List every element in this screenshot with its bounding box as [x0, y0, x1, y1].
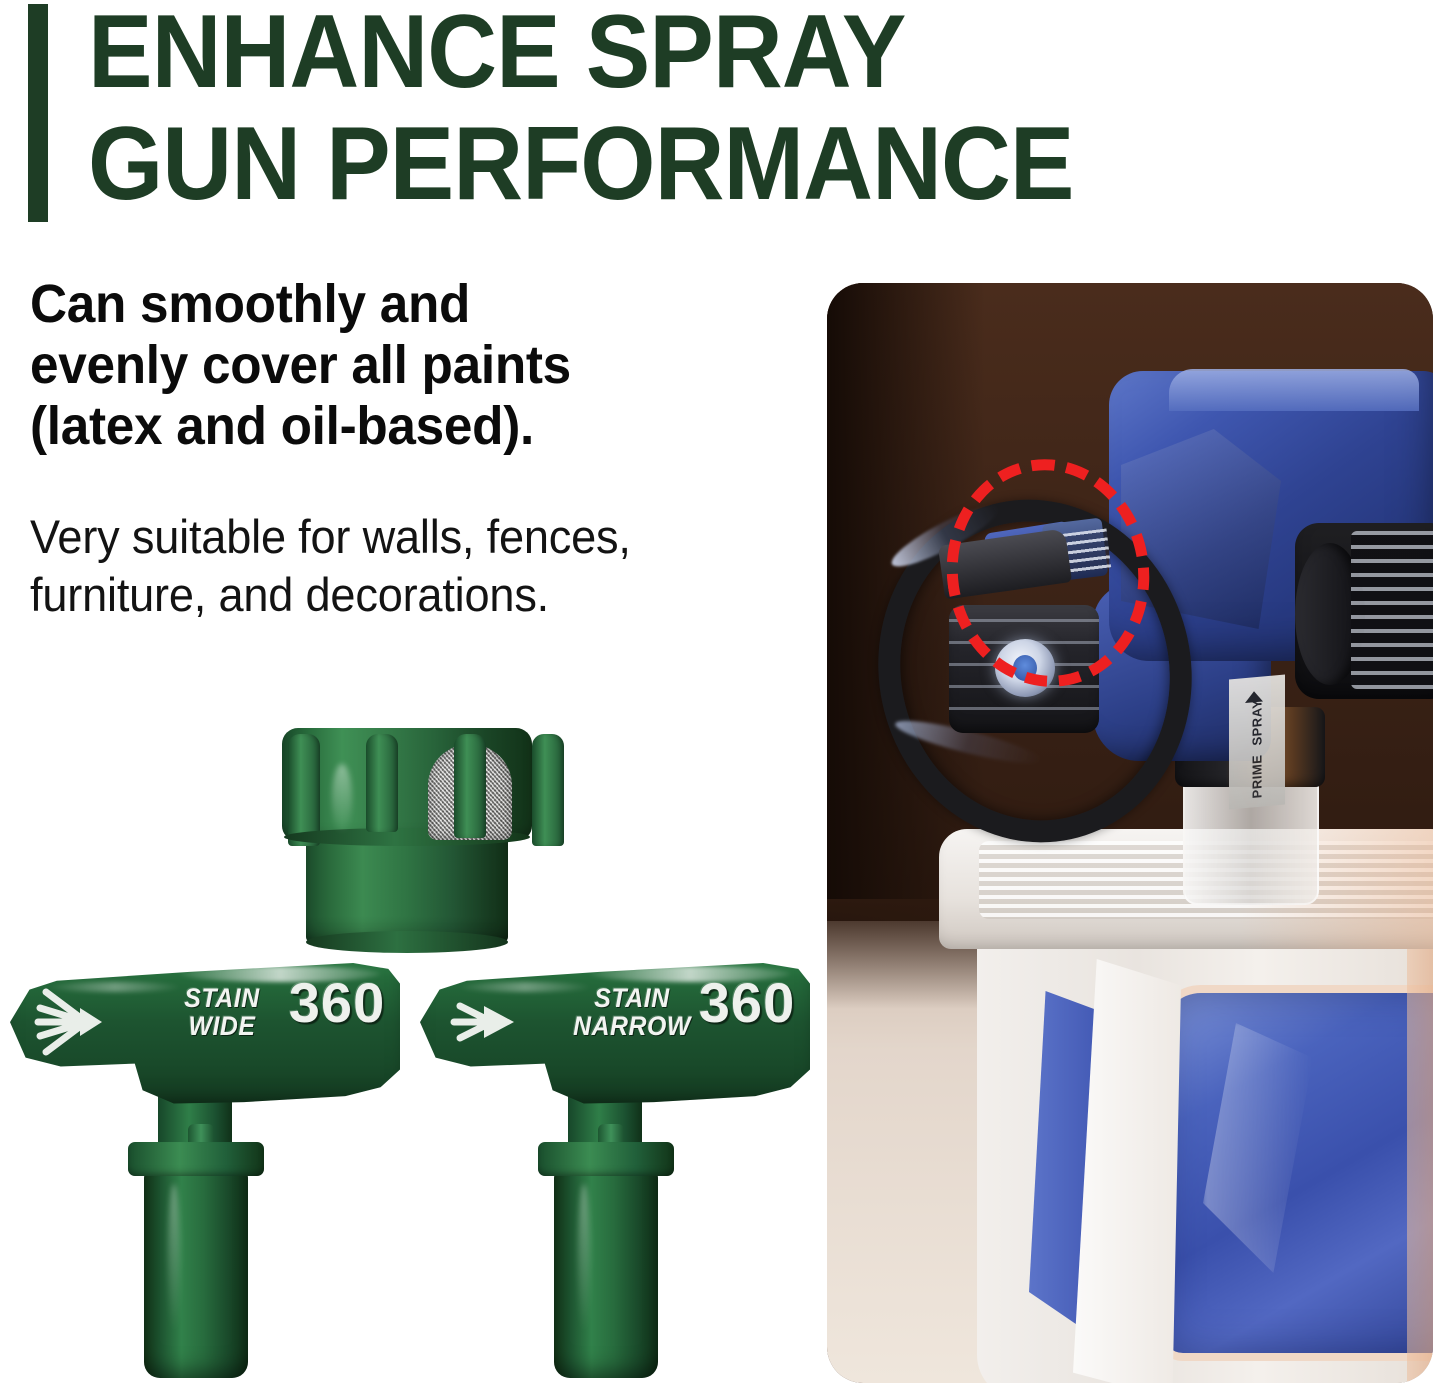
headline-accent-bar: [28, 4, 48, 222]
filter-prong: [454, 734, 486, 838]
filter-prong: [366, 734, 398, 832]
knob-ridges: [1351, 531, 1433, 689]
filter-prong: [288, 734, 320, 846]
filter-prong: [532, 734, 564, 846]
sprayer-body-top: [1169, 369, 1419, 411]
secondary-feature-text: Very suitable for walls, fences, furnitu…: [30, 508, 721, 624]
plate-label-prime: PRIME: [1250, 748, 1265, 805]
spray-tip-stain-wide: STAIN WIDE 360: [10, 960, 410, 1380]
tip-barrel-highlight: [168, 1184, 180, 1334]
sprayer-pressure-knob: [1295, 523, 1433, 699]
paint-bag-window: [1155, 985, 1433, 1361]
suction-filter-product-image: [248, 698, 564, 950]
spray-tip-stain-narrow: STAIN NARROW 360: [420, 960, 820, 1380]
primary-feature-text: Can smoothly and evenly cover all paints…: [30, 274, 695, 457]
paint-container-body: [977, 929, 1433, 1383]
tip-size-text: 360: [682, 974, 812, 1032]
sprayer-mode-plate: SPRAY PRIME: [1229, 675, 1285, 810]
page-title: ENHANCE SPRAY GUN PERFORMANCE: [88, 0, 1241, 220]
tip-barrel: [144, 1170, 248, 1378]
tip-barrel-highlight: [578, 1184, 590, 1334]
tip-collar: [538, 1142, 674, 1176]
paint-sprayer-photo: SPRAY PRIME: [827, 283, 1433, 1383]
headline-block: ENHANCE SPRAY GUN PERFORMANCE: [28, 0, 1318, 232]
tip-barrel: [554, 1170, 658, 1378]
narrow-fan-spray-icon: [434, 984, 518, 1060]
tip-size-text: 360: [272, 974, 402, 1032]
paint-bag-fold: [1203, 1023, 1313, 1273]
filter-highlight: [332, 764, 352, 834]
tip-collar: [128, 1142, 264, 1176]
plate-label-spray: SPRAY: [1250, 694, 1265, 751]
container-side-panel: [1407, 929, 1433, 1383]
wide-fan-spray-icon: [24, 984, 108, 1060]
filter-body: [282, 728, 532, 840]
